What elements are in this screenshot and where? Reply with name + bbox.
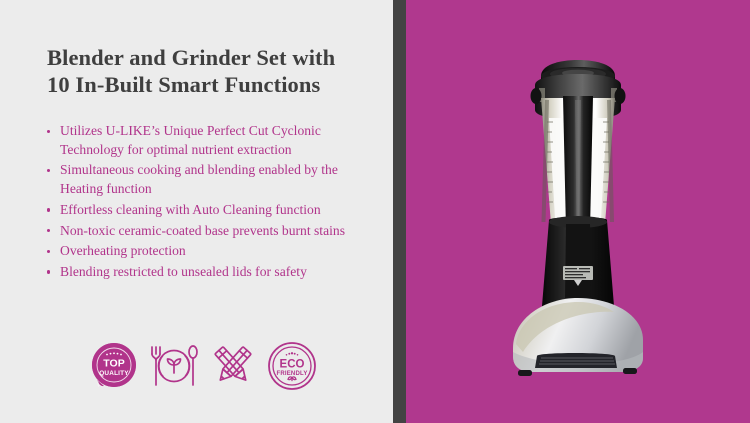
bullet-dot-icon	[47, 130, 50, 133]
top-quality-badge: TOP QUALITY	[90, 341, 137, 391]
list-item-label: Utilizes U-LIKE’s Unique Perfect Cut Cyc…	[60, 123, 321, 157]
list-item-label: Blending restricted to unsealed lids for…	[60, 264, 307, 279]
top-quality-sticker-icon: TOP QUALITY	[92, 343, 136, 387]
list-item: Simultaneous cooking and blending enable…	[46, 161, 376, 198]
page-title-line-2: 10 In-Built Smart Functions	[47, 71, 377, 98]
bullet-dot-icon	[47, 229, 50, 232]
panel-divider	[393, 0, 406, 423]
bullet-dot-icon	[47, 270, 50, 273]
bullet-dot-icon	[47, 169, 50, 172]
list-item: Overheating protection	[46, 242, 376, 261]
page-title: Blender and Grinder Set with 10 In-Built…	[47, 44, 377, 98]
blender-motor-housing	[542, 216, 614, 312]
cutlery-plate-leaf-icon	[152, 346, 197, 385]
list-item-label: Non-toxic ceramic-coated base prevents b…	[60, 223, 345, 238]
list-item-label: Simultaneous cooking and blending enable…	[60, 162, 338, 196]
crossed-pencils-badge	[209, 341, 257, 391]
eco-friendly-line-1: ECO	[280, 359, 305, 371]
eco-friendly-badge: ECO FRIENDLY	[267, 341, 317, 391]
base-vent-grille	[535, 353, 617, 368]
base-foot-right	[623, 368, 637, 374]
blender-base	[513, 298, 643, 376]
left-content-panel: Blender and Grinder Set with 10 In-Built…	[0, 0, 393, 423]
badge-row: TOP QUALITY	[90, 338, 315, 394]
bullet-dot-icon	[47, 208, 50, 211]
product-image-panel	[406, 0, 750, 423]
base-foot-left	[518, 370, 532, 376]
eco-friendly-stamp-icon: ECO FRIENDLY	[269, 343, 315, 389]
page-title-line-1: Blender and Grinder Set with	[47, 44, 377, 71]
list-item-label: Effortless cleaning with Auto Cleaning f…	[60, 202, 321, 217]
list-item: Effortless cleaning with Auto Cleaning f…	[46, 201, 376, 220]
bullet-dot-icon	[47, 250, 50, 253]
list-item-label: Overheating protection	[60, 243, 186, 258]
eco-friendly-line-2: FRIENDLY	[276, 371, 307, 377]
list-item: Non-toxic ceramic-coated base prevents b…	[46, 222, 376, 241]
product-feature-slide: Blender and Grinder Set with 10 In-Built…	[0, 0, 750, 423]
feature-list: Utilizes U-LIKE’s Unique Perfect Cut Cyc…	[46, 122, 376, 284]
crossed-pencils-icon	[215, 347, 251, 384]
top-quality-line-1: TOP	[103, 358, 124, 370]
list-item: Utilizes U-LIKE’s Unique Perfect Cut Cyc…	[46, 122, 376, 159]
top-quality-line-2: QUALITY	[99, 370, 129, 377]
blender-product-image	[483, 52, 673, 382]
healthy-food-badge	[147, 341, 199, 391]
blender-jar	[541, 96, 615, 230]
list-item: Blending restricted to unsealed lids for…	[46, 263, 376, 282]
